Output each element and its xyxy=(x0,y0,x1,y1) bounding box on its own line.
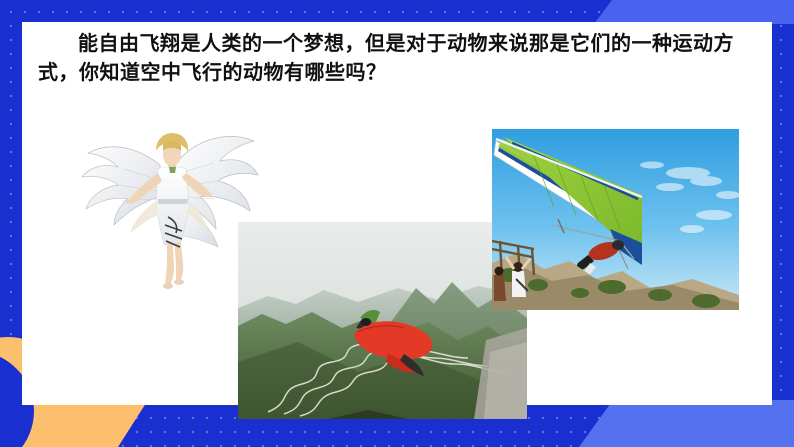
bottom-right-wedge xyxy=(579,400,794,447)
hangglider-image xyxy=(492,129,739,310)
wingsuit-image xyxy=(238,222,527,419)
lead-paragraph: 能自由飞翔是人类的一个梦想，但是对于动物来说那是它们的一种运动方式，你知道空中飞… xyxy=(38,30,756,88)
angel-image xyxy=(72,107,262,292)
content-card: 能自由飞翔是人类的一个梦想，但是对于动物来说那是它们的一种运动方式，你知道空中飞… xyxy=(22,22,772,405)
top-right-wedge xyxy=(594,0,794,24)
slide-canvas: 能自由飞翔是人类的一个梦想，但是对于动物来说那是它们的一种运动方式，你知道空中飞… xyxy=(0,0,794,447)
